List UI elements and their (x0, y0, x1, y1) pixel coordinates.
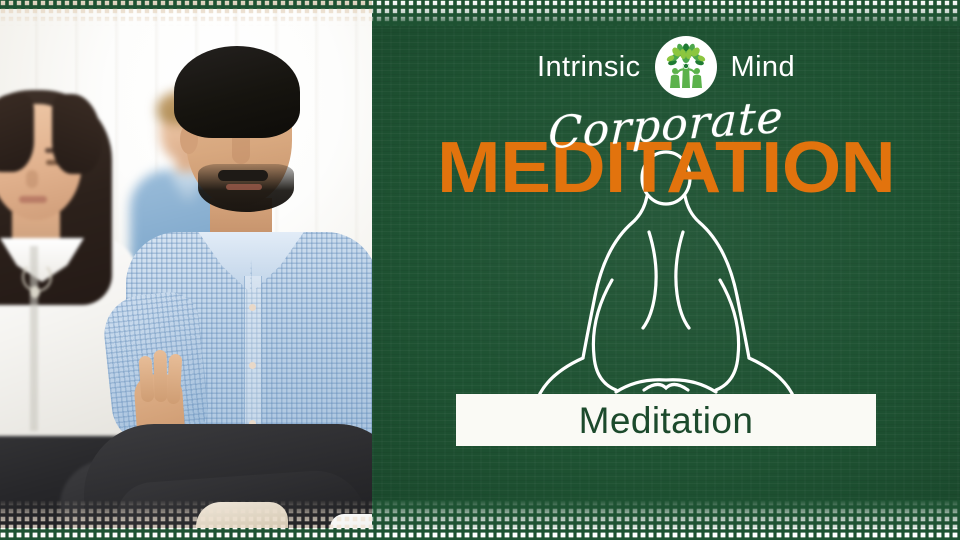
green-content-panel: Intrinsic (372, 0, 960, 540)
brand-lockup: Intrinsic (372, 36, 960, 98)
meditation-label-box: Meditation (456, 394, 876, 446)
meditation-label-text: Meditation (579, 402, 754, 439)
script-text: Corporate (547, 92, 784, 160)
brand-name-left: Intrinsic (537, 53, 641, 82)
headline-text: MEDITATION (437, 132, 895, 204)
meditation-poster: Intrinsic (0, 0, 960, 540)
meditating-figure-line-art (516, 120, 816, 440)
brand-name-right: Mind (731, 53, 795, 82)
script-word-corporate: Corporate (372, 100, 960, 151)
photo-panel (0, 0, 372, 540)
headline-meditation: MEDITATION (372, 132, 960, 204)
tree-with-people-logo-icon (655, 36, 717, 98)
